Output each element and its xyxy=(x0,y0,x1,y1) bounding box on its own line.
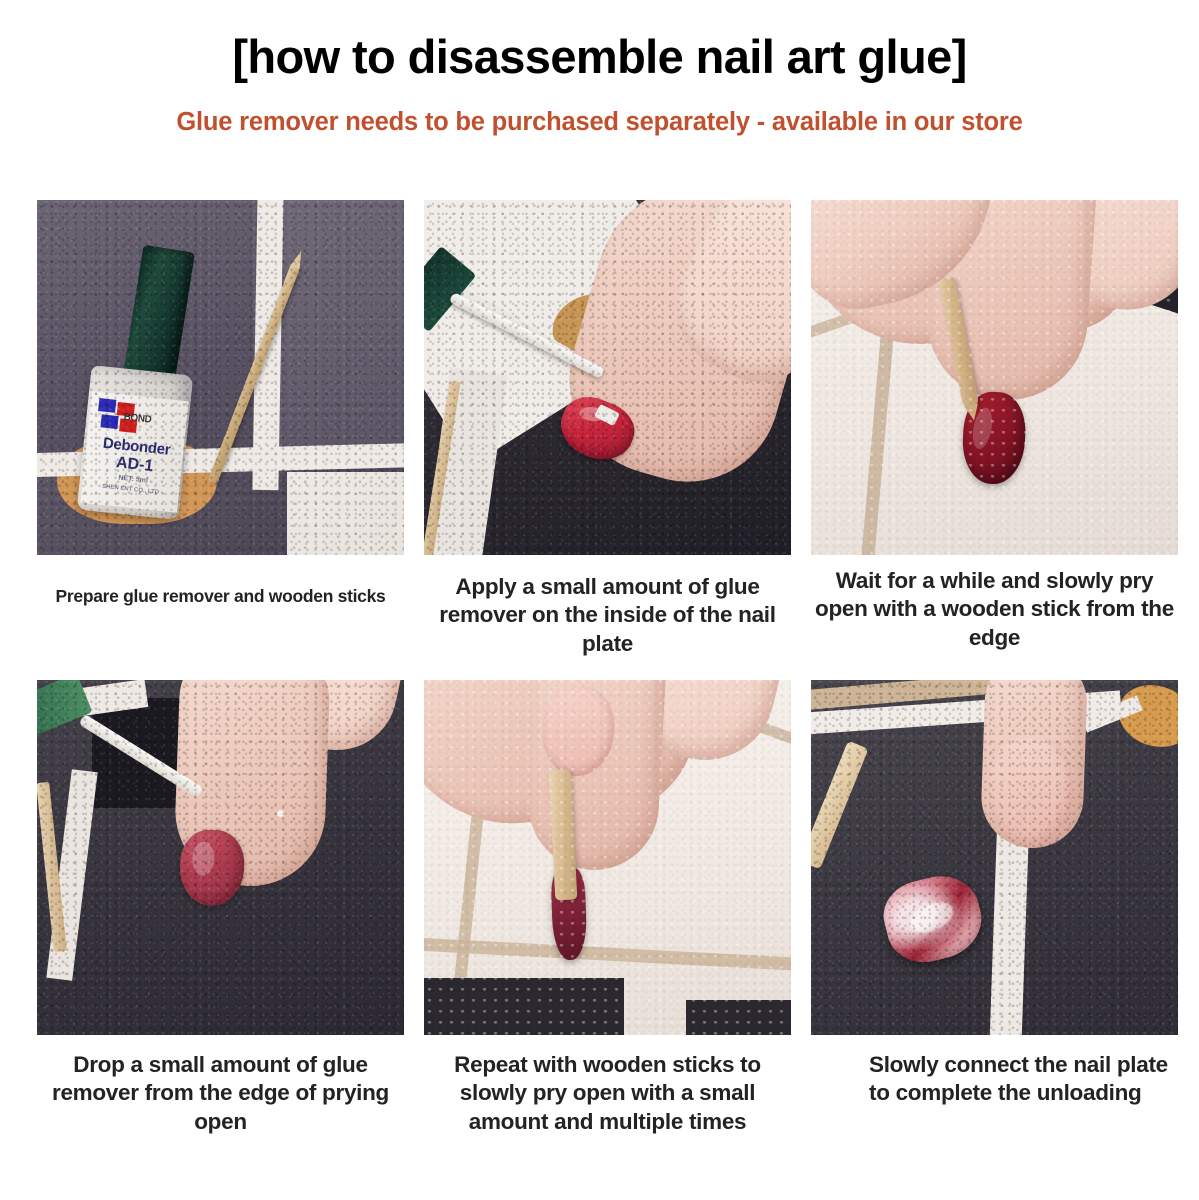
step-card-3: Wait for a while and slowly pry open wit… xyxy=(811,200,1178,658)
page-header: [how to disassemble nail art glue] Glue … xyxy=(0,0,1199,136)
surface-panel-lower-right xyxy=(287,472,404,555)
step-image-2 xyxy=(424,200,791,555)
page-subtitle: Glue remover needs to be purchased separ… xyxy=(0,108,1199,136)
step-image-3 xyxy=(811,200,1178,555)
red-nail xyxy=(179,829,246,907)
surface-panel xyxy=(277,200,404,452)
white-stripe-vertical xyxy=(989,830,1029,1035)
step-card-2: Apply a small amount of glue remover on … xyxy=(424,200,791,658)
step-caption-4: Drop a small amount of glue remover from… xyxy=(37,1035,404,1136)
step-caption-5: Repeat with wooden sticks to slowly pry … xyxy=(424,1035,791,1136)
step-image-1: BOND Debonder AD-1 NET: 5ml SHEN ENT CO.… xyxy=(37,200,404,555)
step-card-5: Repeat with wooden sticks to slowly pry … xyxy=(424,680,791,1136)
bond-logo-icon: BOND xyxy=(96,398,177,440)
fingertip-bare-nail xyxy=(989,736,1073,846)
step-image-6 xyxy=(811,680,1178,1035)
page-title: [how to disassemble nail art glue] xyxy=(0,32,1199,82)
step-caption-2: Apply a small amount of glue remover on … xyxy=(424,555,791,658)
removed-nail-plate xyxy=(877,868,990,971)
bottle-label: BOND Debonder AD-1 NET: 5ml SHEN ENT CO.… xyxy=(80,391,188,513)
step-caption-6: Slowly connect the nail plate to complet… xyxy=(811,1035,1178,1108)
bottle-cap xyxy=(123,245,195,384)
step-card-1: BOND Debonder AD-1 NET: 5ml SHEN ENT CO.… xyxy=(37,200,404,658)
tan-stripe-horizontal xyxy=(424,937,791,972)
step-caption-3: Wait for a while and slowly pry open wit… xyxy=(811,555,1178,652)
dark-block-right xyxy=(686,1000,791,1035)
step-card-6: Slowly connect the nail plate to complet… xyxy=(811,680,1178,1136)
steps-grid: BOND Debonder AD-1 NET: 5ml SHEN ENT CO.… xyxy=(37,200,1159,1136)
dark-block-left xyxy=(424,978,624,1035)
wooden-stick-icon xyxy=(811,741,869,870)
step-caption-1: Prepare glue remover and wooden sticks xyxy=(37,555,404,607)
step-image-4 xyxy=(37,680,404,1035)
highlight-dot xyxy=(277,810,284,817)
step-card-4: Drop a small amount of glue remover from… xyxy=(37,680,404,1136)
step-image-5 xyxy=(424,680,791,1035)
